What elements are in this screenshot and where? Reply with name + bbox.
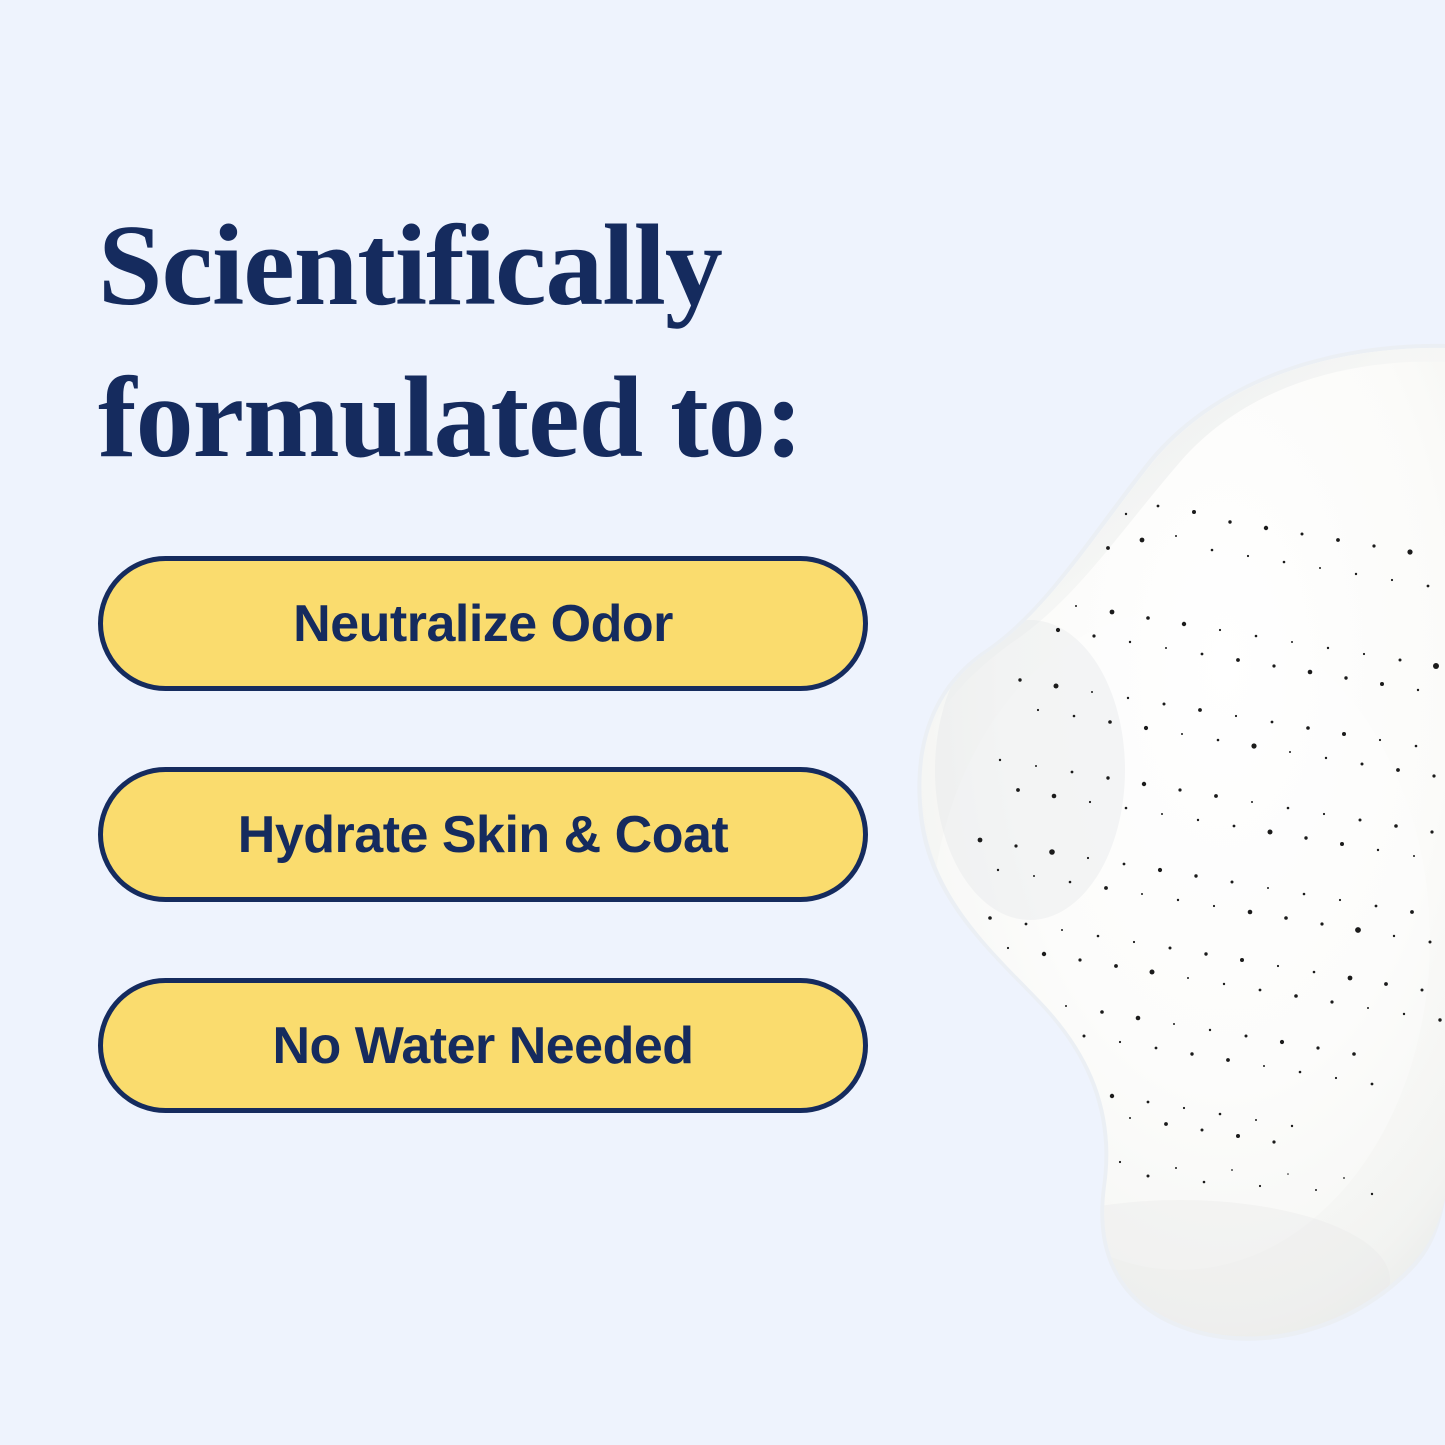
promo-canvas: Scientifically formulated to: xyxy=(0,0,1445,1445)
benefit-pill-neutralize-odor[interactable]: Neutralize Odor xyxy=(98,556,868,691)
benefit-pill-no-water-needed[interactable]: No Water Needed xyxy=(98,978,868,1113)
foam-rim-highlight xyxy=(922,348,1445,1360)
benefit-pill-hydrate-skin-coat[interactable]: Hydrate Skin & Coat xyxy=(98,767,868,902)
benefit-list: Neutralize Odor Hydrate Skin & Coat No W… xyxy=(98,556,868,1113)
benefit-pill-label: Hydrate Skin & Coat xyxy=(238,809,728,861)
foam-blob-svg xyxy=(880,300,1445,1360)
foam-halo xyxy=(917,344,1445,1341)
benefit-pill-label: Neutralize Odor xyxy=(293,598,673,650)
foam-blob-image xyxy=(880,300,1445,1360)
foam-body xyxy=(921,348,1445,1336)
foam-speckles xyxy=(978,505,1442,1196)
benefit-pill-label: No Water Needed xyxy=(272,1020,693,1072)
page-title: Scientifically formulated to: xyxy=(98,190,958,494)
